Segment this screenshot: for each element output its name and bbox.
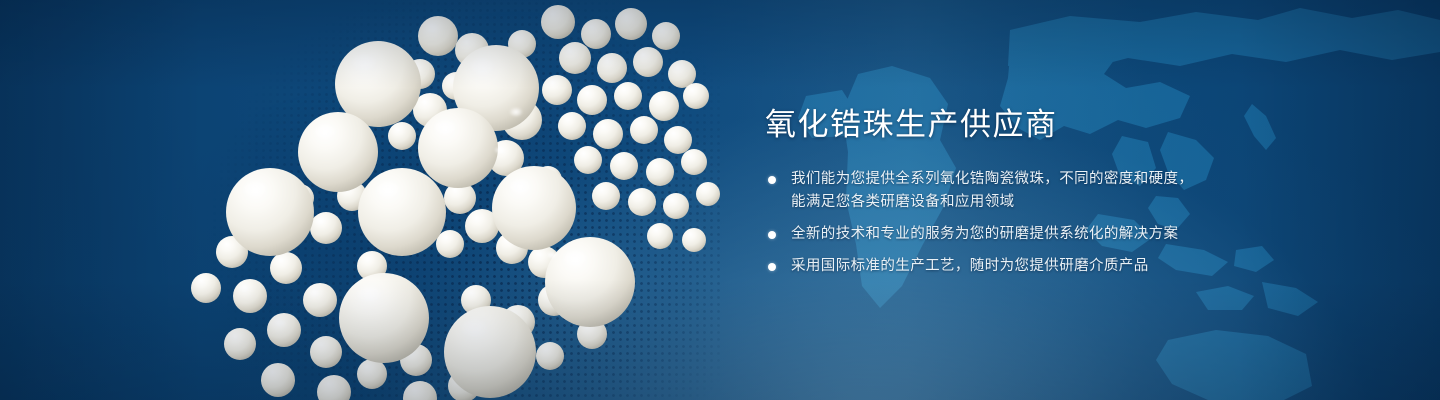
bullet-dot-icon: [768, 263, 776, 271]
list-item: 采用国际标准的生产工艺，随时为您提供研磨介质产品: [765, 255, 1405, 278]
list-item-line: 采用国际标准的生产工艺，随时为您提供研磨介质产品: [791, 255, 1405, 278]
list-item-line: 全新的技术和专业的服务为您的研磨提供系统化的解决方案: [791, 223, 1405, 246]
list-item: 我们能为您提供全系列氧化锆陶瓷微珠，不同的密度和硬度， 能满足您各类研磨设备和应…: [765, 168, 1405, 214]
list-item: 全新的技术和专业的服务为您的研磨提供系统化的解决方案: [765, 223, 1405, 246]
banner-copy: 氧化锆珠生产供应商 我们能为您提供全系列氧化锆陶瓷微珠，不同的密度和硬度， 能满…: [765, 104, 1405, 278]
list-item-line: 我们能为您提供全系列氧化锆陶瓷微珠，不同的密度和硬度，: [791, 168, 1405, 191]
bullet-dot-icon: [768, 231, 776, 239]
promo-banner: 氧化锆珠生产供应商 我们能为您提供全系列氧化锆陶瓷微珠，不同的密度和硬度， 能满…: [0, 0, 1440, 400]
list-item-line: 能满足您各类研磨设备和应用领域: [791, 191, 1405, 214]
feature-list: 我们能为您提供全系列氧化锆陶瓷微珠，不同的密度和硬度， 能满足您各类研磨设备和应…: [765, 168, 1405, 278]
banner-title: 氧化锆珠生产供应商: [765, 104, 1405, 146]
bullet-dot-icon: [768, 176, 776, 184]
